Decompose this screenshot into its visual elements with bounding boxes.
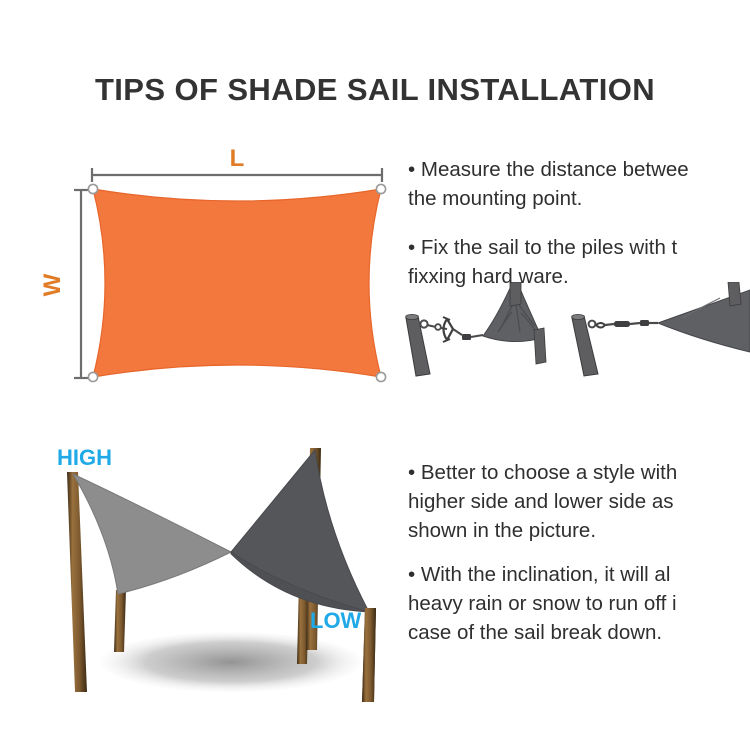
pole-low-front xyxy=(362,608,376,702)
sail-dark-gray xyxy=(231,450,369,612)
tip-inclination-runoff: • With the inclination, it will al heavy… xyxy=(408,560,750,647)
fixing-hardware-diagram xyxy=(400,282,750,377)
pole-high-left xyxy=(67,472,87,692)
shackle-icon xyxy=(462,334,483,340)
eyebolt-icon xyxy=(420,320,440,329)
chain-icon xyxy=(605,320,658,327)
sail-light-gray xyxy=(73,474,231,594)
orange-shade-sail xyxy=(93,189,381,377)
tip-choose-style: • Better to choose a style with higher s… xyxy=(408,458,750,545)
width-label: W xyxy=(39,273,66,296)
pole-back-left xyxy=(114,590,126,652)
hardware-detail-right xyxy=(572,282,750,376)
tip-fix-sail-to-piles: • Fix the sail to the piles with t fixxi… xyxy=(408,233,750,291)
rectangular-sail-diagram: L W xyxy=(30,140,410,415)
width-dimension-line xyxy=(74,190,88,378)
high-low-style-diagram: HIGH LOW xyxy=(35,430,425,720)
grommet-icon xyxy=(88,184,97,193)
sail-corner-right xyxy=(658,282,750,352)
sail-corner-left xyxy=(483,282,546,364)
page-title: TIPS OF SHADE SAIL INSTALLATION xyxy=(0,72,750,108)
length-label: L xyxy=(230,145,245,172)
hardware-detail-left xyxy=(406,282,546,376)
low-label: LOW xyxy=(310,608,362,633)
carabiner-icon xyxy=(589,321,605,328)
grommet-icon xyxy=(376,184,385,193)
high-label: HIGH xyxy=(57,445,112,470)
grommet-icon xyxy=(376,372,385,381)
post-icon xyxy=(572,314,598,376)
infographic-page: TIPS OF SHADE SAIL INSTALLATION xyxy=(0,0,750,750)
tip-measure-distance: • Measure the distance betwee the mounti… xyxy=(408,155,750,213)
grommet-icon xyxy=(88,372,97,381)
ground-shadow xyxy=(101,632,361,692)
post-icon xyxy=(406,314,430,376)
turnbuckle-icon xyxy=(441,317,462,342)
